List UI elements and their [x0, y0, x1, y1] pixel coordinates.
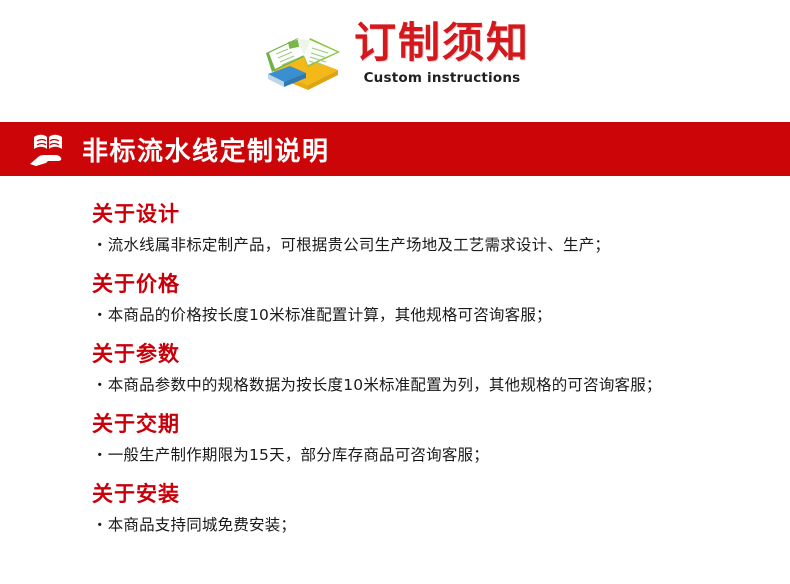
logo-inner: 订制须知 Custom instructions	[260, 19, 530, 91]
section-heading: 关于交期	[92, 410, 790, 438]
section-body: ・流水线属非标定制产品，可根据贵公司生产场地及工艺需求设计、生产；	[92, 232, 790, 258]
section-heading: 关于安装	[92, 480, 790, 508]
section-price: 关于价格 ・本商品的价格按长度10米标准配置计算，其他规格可咨询客服；	[0, 270, 790, 340]
section-parameters: 关于参数 ・本商品参数中的规格数据为按长度10米标准配置为列，其他规格的可咨询客…	[0, 340, 790, 410]
section-body: ・本商品参数中的规格数据为按长度10米标准配置为列，其他规格的可咨询客服；	[92, 372, 790, 398]
hand-holding-book-icon	[28, 132, 68, 166]
page-title: 订制须知	[354, 21, 530, 65]
section-body: ・一般生产制作期限为15天，部分库存商品可咨询客服；	[92, 442, 790, 468]
banner-title: 非标流水线定制说明	[82, 131, 330, 168]
section-banner: 非标流水线定制说明	[0, 122, 790, 176]
section-body: ・本商品的价格按长度10米标准配置计算，其他规格可咨询客服；	[92, 302, 790, 328]
section-body: ・本商品支持同城免费安装；	[92, 512, 790, 538]
logo-text-group: 订制须知 Custom instructions	[354, 21, 530, 86]
section-installation: 关于安装 ・本商品支持同城免费安装；	[0, 480, 790, 550]
page-subtitle: Custom instructions	[364, 70, 521, 86]
section-heading: 关于设计	[92, 200, 790, 228]
section-heading: 关于参数	[92, 340, 790, 368]
logo-header: 订制须知 Custom instructions	[0, 0, 790, 110]
section-design: 关于设计 ・流水线属非标定制产品，可根据贵公司生产场地及工艺需求设计、生产；	[0, 200, 790, 270]
open-book-icon	[260, 27, 342, 91]
instructions-list: 关于设计 ・流水线属非标定制产品，可根据贵公司生产场地及工艺需求设计、生产； 关…	[0, 200, 790, 550]
section-delivery: 关于交期 ・一般生产制作期限为15天，部分库存商品可咨询客服；	[0, 410, 790, 480]
section-heading: 关于价格	[92, 270, 790, 298]
